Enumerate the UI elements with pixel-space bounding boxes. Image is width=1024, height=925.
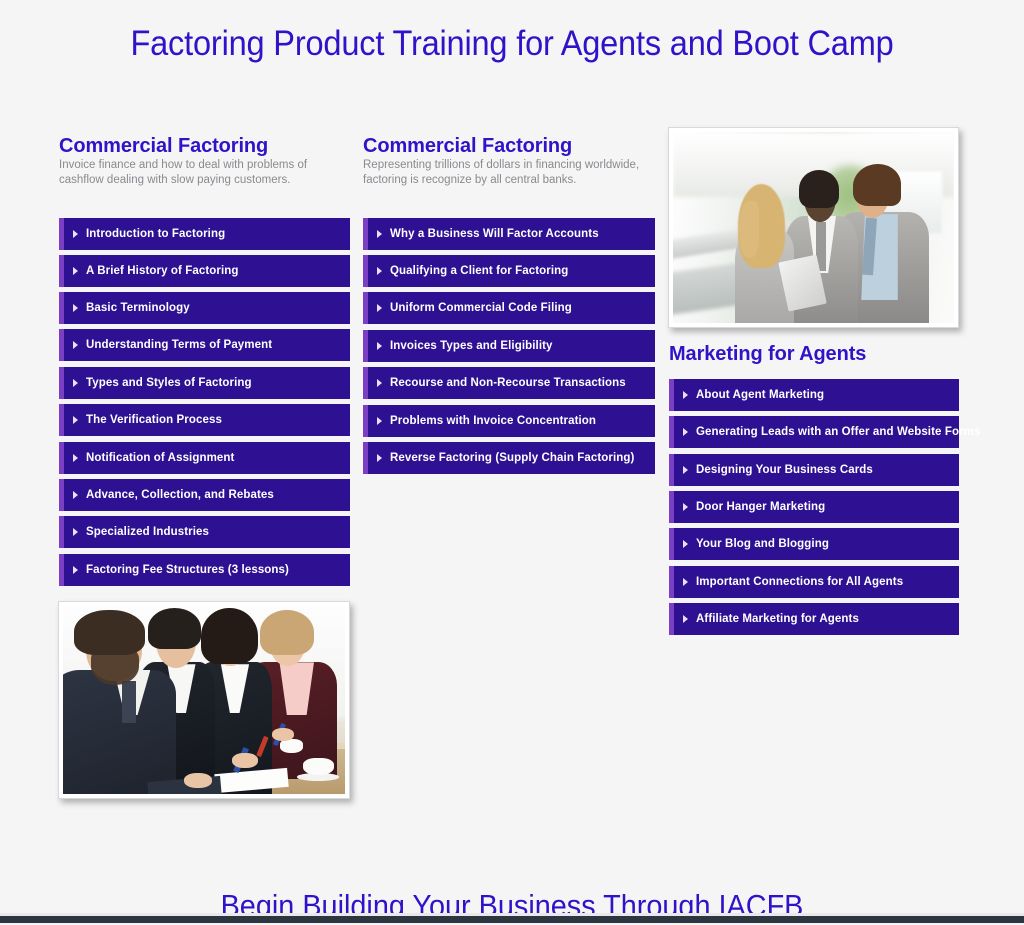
triangle-right-icon: [73, 230, 78, 238]
triangle-right-icon: [683, 540, 688, 548]
accordion-item-label: About Agent Marketing: [696, 389, 824, 402]
triangle-right-icon: [683, 391, 688, 399]
accordion-item-label: Why a Business Will Factor Accounts: [390, 228, 599, 241]
column-1-description: Invoice finance and how to deal with pro…: [59, 158, 309, 187]
accordion-item-notification-of-assignment[interactable]: Notification of Assignment: [59, 442, 350, 474]
triangle-right-icon: [377, 417, 382, 425]
triangle-right-icon: [377, 267, 382, 275]
accordion-item-introduction-to-factoring[interactable]: Introduction to Factoring: [59, 218, 350, 250]
accordion-item-label: Types and Styles of Factoring: [86, 377, 252, 390]
accordion-item-label: Notification of Assignment: [86, 452, 234, 465]
accordion-item-qualifying-a-client-for-factoring[interactable]: Qualifying a Client for Factoring: [363, 255, 655, 287]
triangle-right-icon: [683, 428, 688, 436]
triangle-right-icon: [73, 416, 78, 424]
triangle-right-icon: [377, 304, 382, 312]
accordion-item-types-and-styles-of-factoring[interactable]: Types and Styles of Factoring: [59, 367, 350, 399]
accordion-item-designing-your-business-cards[interactable]: Designing Your Business Cards: [669, 454, 959, 486]
triangle-right-icon: [73, 341, 78, 349]
accordion-item-label: Factoring Fee Structures (3 lessons): [86, 564, 289, 577]
triangle-right-icon: [73, 379, 78, 387]
footer-strip: [0, 916, 1024, 923]
accordion-item-recourse-and-non-recourse-transactions[interactable]: Recourse and Non-Recourse Transactions: [363, 367, 655, 399]
accordion-item-label: Affiliate Marketing for Agents: [696, 613, 859, 626]
triangle-right-icon: [73, 566, 78, 574]
four-business-professionals-taking-notes-photo: [58, 601, 350, 799]
accordion-item-label: Recourse and Non-Recourse Transactions: [390, 377, 626, 390]
accordion-item-the-verification-process[interactable]: The Verification Process: [59, 404, 350, 436]
accordion-item-invoices-types-and-eligibility[interactable]: Invoices Types and Eligibility: [363, 330, 655, 362]
triangle-right-icon: [377, 230, 382, 238]
triangle-right-icon: [377, 454, 382, 462]
triangle-right-icon: [73, 491, 78, 499]
accordion-item-important-connections[interactable]: Important Connections for All Agents: [669, 566, 959, 598]
accordion-item-understanding-terms-of-payment[interactable]: Understanding Terms of Payment: [59, 329, 350, 361]
triangle-right-icon: [377, 342, 382, 350]
accordion-item-label: Basic Terminology: [86, 302, 190, 315]
accordion-item-label: Uniform Commercial Code Filing: [390, 302, 572, 315]
accordion-item-a-brief-history-of-factoring[interactable]: A Brief History of Factoring: [59, 255, 350, 287]
accordion-item-label: Important Connections for All Agents: [696, 576, 903, 589]
triangle-right-icon: [73, 528, 78, 536]
accordion-item-label: Designing Your Business Cards: [696, 464, 873, 477]
accordion-item-label: The Verification Process: [86, 414, 222, 427]
page-title: Factoring Product Training for Agents an…: [36, 22, 988, 66]
accordion-item-generating-leads[interactable]: Generating Leads with an Offer and Websi…: [669, 416, 959, 448]
triangle-right-icon: [73, 454, 78, 462]
accordion-item-label: Advance, Collection, and Rebates: [86, 489, 274, 502]
triangle-right-icon: [683, 503, 688, 511]
accordion-item-affiliate-marketing-for-agents[interactable]: Affiliate Marketing for Agents: [669, 603, 959, 635]
triangle-right-icon: [73, 304, 78, 312]
accordion-item-label: Door Hanger Marketing: [696, 501, 825, 514]
triangle-right-icon: [377, 379, 382, 387]
column-2-description: Representing trillions of dollars in fin…: [363, 158, 648, 187]
accordion-item-label: Qualifying a Client for Factoring: [390, 265, 568, 278]
triangle-right-icon: [683, 578, 688, 586]
accordion-item-uniform-commercial-code-filing[interactable]: Uniform Commercial Code Filing: [363, 292, 655, 324]
column-1-heading: Commercial Factoring: [59, 134, 268, 158]
accordion-item-label: Generating Leads with an Offer and Websi…: [696, 426, 980, 439]
triangle-right-icon: [73, 267, 78, 275]
accordion-item-problems-with-invoice-concentration[interactable]: Problems with Invoice Concentration: [363, 405, 655, 437]
accordion-item-label: Introduction to Factoring: [86, 228, 225, 241]
accordion-item-basic-terminology[interactable]: Basic Terminology: [59, 292, 350, 324]
accordion-item-label: A Brief History of Factoring: [86, 265, 239, 278]
accordion-item-label: Invoices Types and Eligibility: [390, 340, 553, 353]
three-business-people-reviewing-tablet-photo: [668, 127, 959, 328]
accordion-item-your-blog-and-blogging[interactable]: Your Blog and Blogging: [669, 528, 959, 560]
accordion-item-label: Specialized Industries: [86, 526, 209, 539]
accordion-item-label: Reverse Factoring (Supply Chain Factorin…: [390, 452, 634, 465]
accordion-item-specialized-industries[interactable]: Specialized Industries: [59, 516, 350, 548]
column-3-heading: Marketing for Agents: [669, 342, 866, 366]
accordion-item-label: Understanding Terms of Payment: [86, 339, 272, 352]
column-2-heading: Commercial Factoring: [363, 134, 572, 158]
triangle-right-icon: [683, 466, 688, 474]
accordion-item-reverse-factoring[interactable]: Reverse Factoring (Supply Chain Factorin…: [363, 442, 655, 474]
triangle-right-icon: [683, 615, 688, 623]
accordion-item-label: Your Blog and Blogging: [696, 538, 829, 551]
accordion-item-label: Problems with Invoice Concentration: [390, 415, 596, 428]
accordion-item-advance-collection-and-rebates[interactable]: Advance, Collection, and Rebates: [59, 479, 350, 511]
accordion-item-factoring-fee-structures[interactable]: Factoring Fee Structures (3 lessons): [59, 554, 350, 586]
accordion-item-door-hanger-marketing[interactable]: Door Hanger Marketing: [669, 491, 959, 523]
page-root: Factoring Product Training for Agents an…: [0, 0, 1024, 923]
accordion-item-about-agent-marketing[interactable]: About Agent Marketing: [669, 379, 959, 411]
accordion-item-why-a-business-will-factor-accounts[interactable]: Why a Business Will Factor Accounts: [363, 218, 655, 250]
